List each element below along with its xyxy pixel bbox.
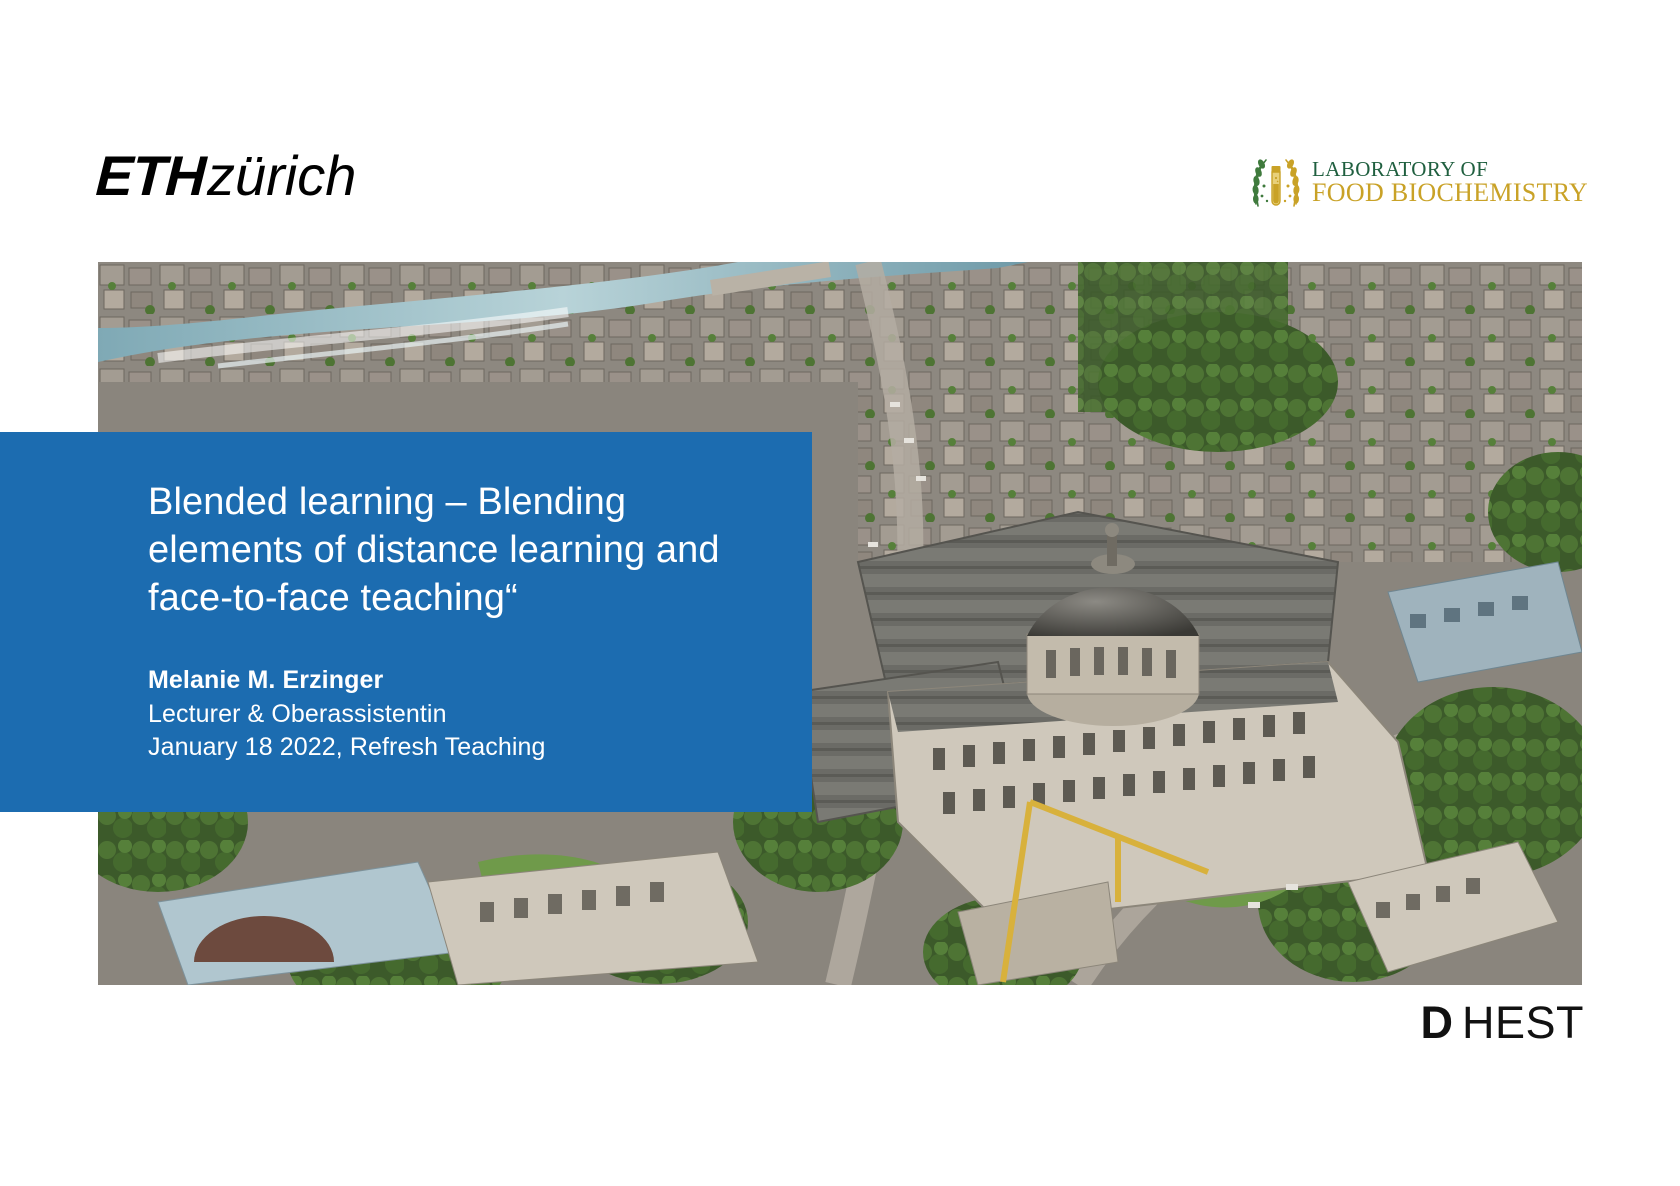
slide-title: Blended learning – Blending elements of … bbox=[148, 478, 752, 622]
dhest-logo-d: D bbox=[1420, 1000, 1453, 1045]
dhest-logo: D HEST bbox=[1420, 1000, 1584, 1045]
lab-logo-wordmark: Laboratory of Food Biochemistry bbox=[1312, 159, 1588, 207]
eth-logo-word: zürich bbox=[207, 148, 356, 204]
author-role: Lecturer & Oberassistentin bbox=[148, 698, 752, 731]
lab-logo-line-1: Laboratory of bbox=[1312, 159, 1588, 180]
lab-logo-line-2: Food Biochemistry bbox=[1312, 180, 1588, 207]
author-date-event: January 18 2022, Refresh Teaching bbox=[148, 731, 752, 764]
title-panel: Blended learning – Blending elements of … bbox=[0, 432, 812, 812]
eth-zurich-logo: ETH zürich bbox=[96, 148, 356, 204]
dhest-logo-hest: HEST bbox=[1462, 1000, 1584, 1045]
author-name: Melanie M. Erzinger bbox=[148, 662, 752, 698]
eth-logo-mark: ETH bbox=[95, 148, 207, 204]
lab-food-biochemistry-logo: Laboratory of Food Biochemistry bbox=[1246, 152, 1588, 214]
test-tube-wheat-emblem-icon bbox=[1246, 152, 1306, 214]
slide-root: ETH zürich bbox=[0, 0, 1680, 1186]
author-block: Melanie M. Erzinger Lecturer & Oberassis… bbox=[148, 662, 752, 764]
